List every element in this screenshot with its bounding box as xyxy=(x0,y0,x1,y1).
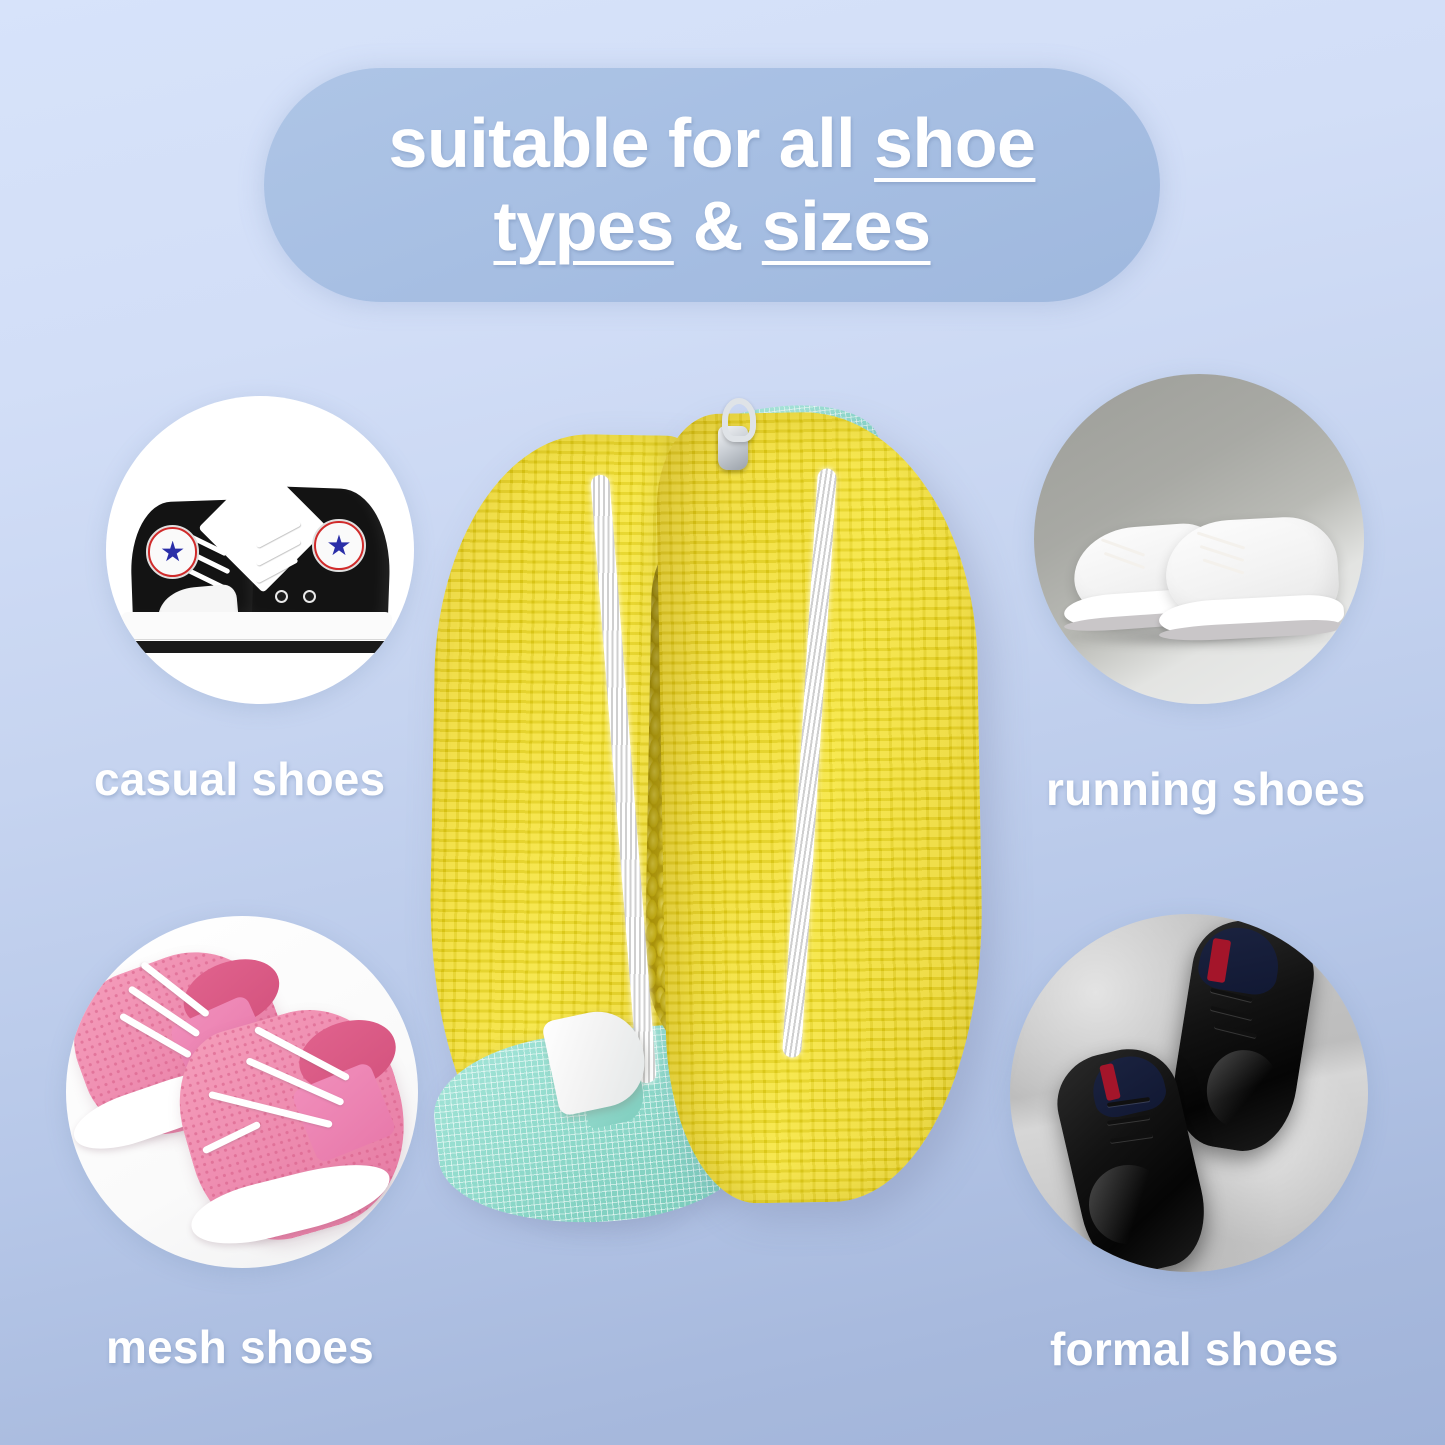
casual-shoes-photo xyxy=(106,396,414,704)
category-image-mesh-shoes xyxy=(66,916,418,1268)
headline-text: suitable for all shoe types & sizes xyxy=(264,102,1160,267)
category-label-running-shoes: running shoes xyxy=(1046,762,1366,816)
headline-banner: suitable for all shoe types & sizes xyxy=(264,68,1160,302)
running-shoes-photo xyxy=(1034,374,1364,704)
headline-segment-sizes: sizes xyxy=(762,187,931,265)
product-infographic-poster: suitable for all shoe types & sizes xyxy=(0,0,1445,1445)
category-label-formal-shoes: formal shoes xyxy=(1050,1322,1339,1376)
converse-allstar-logo-patch xyxy=(312,519,365,572)
headline-segment-types: types xyxy=(493,187,673,265)
category-label-casual-shoes: casual shoes xyxy=(94,752,385,806)
headline-segment-4: & xyxy=(674,187,762,265)
converse-allstar-logo-patch xyxy=(146,525,199,578)
category-image-running-shoes xyxy=(1034,374,1364,704)
product-shoe-wash-bag xyxy=(400,382,1000,1222)
zipper-pull-icon xyxy=(722,398,756,442)
category-image-formal-shoes xyxy=(1010,914,1368,1272)
category-image-casual-shoes xyxy=(106,396,414,704)
converse-black-sole-stripe xyxy=(121,641,392,653)
category-label-mesh-shoes: mesh shoes xyxy=(106,1320,374,1374)
formal-shoes-photo xyxy=(1010,914,1368,1272)
converse-white-sole xyxy=(121,612,392,640)
headline-segment-shoe: shoe xyxy=(874,104,1035,182)
headline-segment-0: suitable for all xyxy=(389,104,875,182)
mesh-shoes-photo xyxy=(66,916,418,1268)
